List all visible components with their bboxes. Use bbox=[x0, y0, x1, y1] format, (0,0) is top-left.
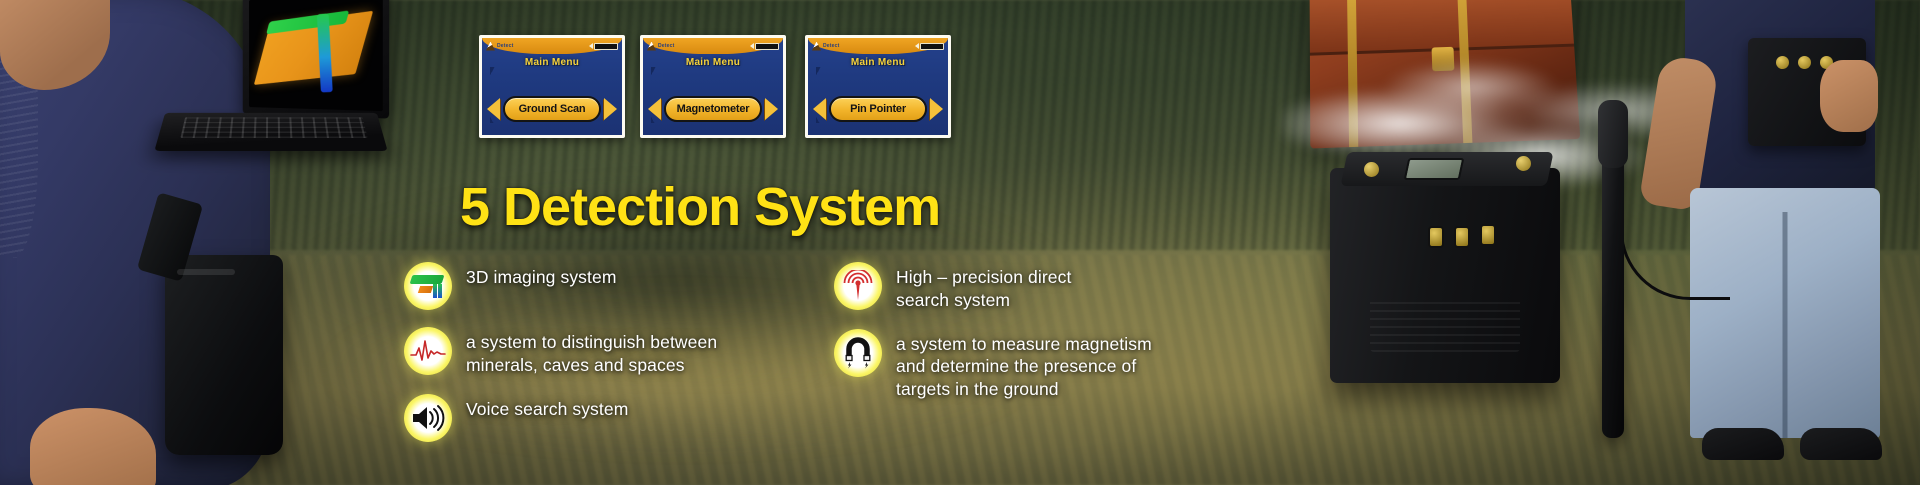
probe-handle bbox=[1598, 100, 1628, 168]
feature-line: minerals, caves and spaces bbox=[466, 354, 717, 377]
bag-highlight bbox=[177, 269, 235, 275]
speaker-glyph bbox=[411, 404, 445, 432]
feature-item-voice-search: Voice search system bbox=[404, 394, 824, 442]
battery-icon bbox=[755, 43, 779, 50]
device-status-bar: Detect bbox=[643, 38, 783, 54]
chevron-left-icon[interactable] bbox=[648, 98, 661, 120]
mode-button-pin-pointer[interactable]: Pin Pointer bbox=[829, 96, 927, 122]
pouch-button bbox=[1798, 56, 1811, 69]
operator-shoe bbox=[1702, 428, 1784, 460]
device-status-bar: Detect bbox=[482, 38, 622, 54]
feature-item-magnetism-measurement: a system to measure magnetism and determ… bbox=[834, 329, 1264, 401]
speaker-icon bbox=[750, 43, 754, 49]
chevron-left-icon[interactable] bbox=[487, 98, 500, 120]
detector-button bbox=[1454, 226, 1470, 248]
device-screen-title: Main Menu bbox=[808, 57, 948, 68]
laptop-keys bbox=[180, 117, 367, 138]
waveform-glyph bbox=[410, 338, 446, 364]
radar-glyph bbox=[842, 270, 874, 302]
laptop-keyboard-base bbox=[154, 113, 387, 151]
device-brand-logo: Detect bbox=[486, 42, 513, 51]
device-logo-text: Detect bbox=[658, 43, 674, 49]
device-brand-logo: Detect bbox=[812, 42, 839, 51]
operator-shoe bbox=[1800, 428, 1882, 460]
mode-button-ground-scan[interactable]: Ground Scan bbox=[503, 96, 601, 122]
treasure-chest bbox=[1310, 0, 1581, 149]
feature-line: Voice search system bbox=[466, 398, 628, 421]
detector-lcd-screen bbox=[1404, 158, 1465, 180]
radar-signal-icon bbox=[834, 262, 882, 310]
magnet-icon bbox=[834, 329, 882, 377]
magnet-glyph bbox=[843, 337, 873, 369]
speaker-icon bbox=[915, 43, 919, 49]
device-brand-logo: Detect bbox=[647, 42, 674, 51]
battery-indicator bbox=[589, 43, 618, 50]
battery-indicator bbox=[915, 43, 944, 50]
feature-text: High – precision direct search system bbox=[896, 262, 1071, 312]
chevron-right-icon[interactable] bbox=[604, 98, 617, 120]
detector-button bbox=[1428, 226, 1444, 248]
battery-icon bbox=[920, 43, 944, 50]
feature-line: targets in the ground bbox=[896, 378, 1152, 401]
pouch-button bbox=[1776, 56, 1789, 69]
detector-vent-grill bbox=[1370, 296, 1520, 352]
feature-text: a system to measure magnetism and determ… bbox=[896, 329, 1152, 401]
detector-knob bbox=[1516, 156, 1531, 171]
feature-line: 3D imaging system bbox=[466, 266, 617, 289]
promo-banner: Detect Main Menu Ground Scan bbox=[0, 0, 1920, 485]
device-panel-magnetometer[interactable]: Detect Main Menu Magnetometer bbox=[640, 35, 786, 138]
battery-indicator bbox=[750, 43, 779, 50]
feature-text: a system to distinguish between minerals… bbox=[466, 327, 717, 377]
feature-line: search system bbox=[896, 289, 1071, 312]
logo-mark-icon bbox=[812, 42, 821, 51]
device-status-bar: Detect bbox=[808, 38, 948, 54]
device-logo-text: Detect bbox=[497, 43, 513, 49]
detector-button bbox=[1480, 224, 1496, 246]
operator-right-hand bbox=[1820, 60, 1878, 132]
device-logo-text: Detect bbox=[823, 43, 839, 49]
feature-item-high-precision-search: High – precision direct search system bbox=[834, 262, 1264, 312]
feature-line: and determine the presence of bbox=[896, 355, 1152, 378]
chevron-right-icon[interactable] bbox=[765, 98, 778, 120]
feature-list-left: 3D imaging system a system to distinguis… bbox=[404, 262, 824, 459]
device-screen-title: Main Menu bbox=[482, 57, 622, 68]
logo-mark-icon bbox=[647, 42, 656, 51]
laptop-lid bbox=[243, 0, 389, 119]
detector-main-unit bbox=[1330, 168, 1560, 383]
chest-lock bbox=[1431, 47, 1454, 71]
shoulder-bag bbox=[165, 255, 283, 455]
chevron-right-icon[interactable] bbox=[930, 98, 943, 120]
feature-line: a system to distinguish between bbox=[466, 331, 717, 354]
speaker-icon bbox=[404, 394, 452, 442]
feature-list-right: High – precision direct search system a … bbox=[834, 262, 1264, 418]
laptop-device bbox=[150, 0, 390, 172]
feature-item-3d-imaging: 3D imaging system bbox=[404, 262, 824, 310]
page-title: 5 Detection System bbox=[460, 176, 940, 238]
detector-knob bbox=[1364, 162, 1379, 177]
battery-icon bbox=[594, 43, 618, 50]
feature-text: 3D imaging system bbox=[466, 262, 617, 289]
mode-button-magnetometer[interactable]: Magnetometer bbox=[664, 96, 762, 122]
logo-mark-icon bbox=[486, 42, 495, 51]
waveform-icon bbox=[404, 327, 452, 375]
device-panel-ground-scan[interactable]: Detect Main Menu Ground Scan bbox=[479, 35, 625, 138]
speaker-icon bbox=[589, 43, 593, 49]
device-panel-pin-pointer[interactable]: Detect Main Menu Pin Pointer bbox=[805, 35, 951, 138]
3d-imaging-icon bbox=[404, 262, 452, 310]
device-screen-title: Main Menu bbox=[643, 57, 783, 68]
chevron-left-icon[interactable] bbox=[813, 98, 826, 120]
laptop-screen-3d-scan bbox=[249, 0, 383, 111]
feature-text: Voice search system bbox=[466, 394, 628, 421]
feature-line: a system to measure magnetism bbox=[896, 333, 1152, 356]
feature-item-mineral-cave-distinction: a system to distinguish between minerals… bbox=[404, 327, 824, 377]
feature-line: High – precision direct bbox=[896, 266, 1071, 289]
